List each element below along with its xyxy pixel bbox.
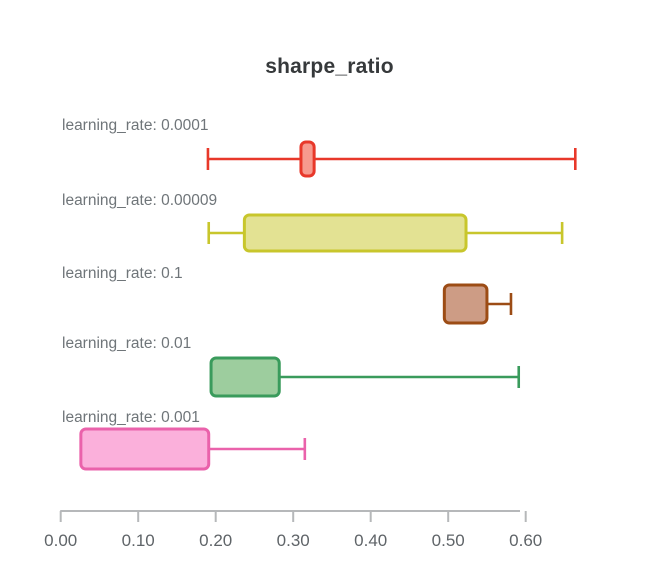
box-0[interactable] <box>301 142 314 176</box>
x-axis-tick-label-6: 0.60 <box>509 531 542 551</box>
x-axis-tick-label-2: 0.20 <box>199 531 232 551</box>
box-plot-row-0 <box>208 142 575 176</box>
box-1[interactable] <box>244 215 466 251</box>
box-plot-row-3 <box>211 358 519 396</box>
x-axis-tick-label-5: 0.50 <box>432 531 465 551</box>
box-3[interactable] <box>211 358 279 396</box>
boxplot-plot-area <box>0 0 659 579</box>
x-axis-tick-label-4: 0.40 <box>354 531 387 551</box>
x-axis-tick-label-3: 0.30 <box>277 531 310 551</box>
x-axis-tick-label-1: 0.10 <box>122 531 155 551</box>
x-axis-tick-label-0: 0.00 <box>44 531 77 551</box>
box-plot-row-4 <box>81 429 305 469</box>
boxplot-chart: sharpe_ratio learning_rate: 0.0001 learn… <box>0 0 659 579</box>
box-plot-row-1 <box>209 215 562 251</box>
box-2[interactable] <box>444 285 487 323</box>
box-plot-row-2 <box>444 285 511 323</box>
box-4[interactable] <box>81 429 209 469</box>
